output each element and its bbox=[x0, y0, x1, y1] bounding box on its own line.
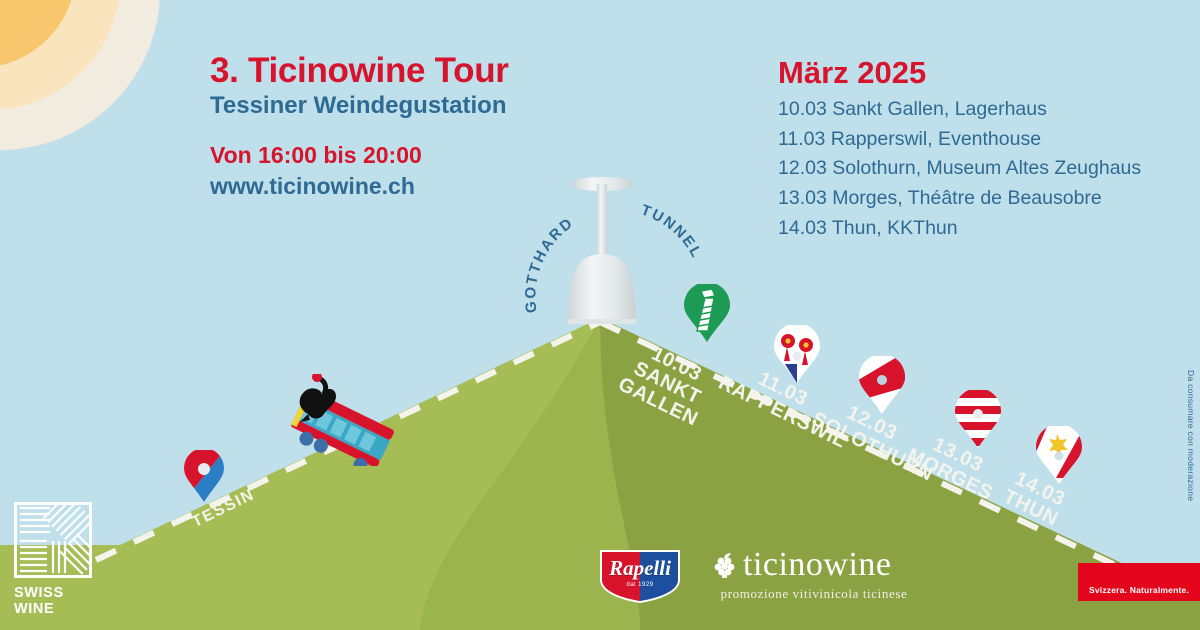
ticinowine-tagline: promozione vitivinicola ticinese bbox=[714, 586, 914, 602]
tour-bus-with-rooster-icon bbox=[284, 374, 394, 466]
rapelli-established: dal 1929 bbox=[598, 582, 682, 588]
list-item: 12.03 Solothurn, Museum Altes Zeughaus bbox=[778, 154, 1198, 184]
swiss-wine-logo: SWISS WINE bbox=[14, 502, 100, 617]
list-item: 10.03 Sankt Gallen, Lagerhaus bbox=[778, 95, 1198, 125]
svizzera-naturalmente-banner: Svizzera. Naturalmente. bbox=[1078, 563, 1200, 601]
schedule-list: 10.03 Sankt Gallen, Lagerhaus 11.03 Rapp… bbox=[778, 95, 1198, 243]
ticino-origin-pin-icon bbox=[184, 450, 224, 502]
rapperswil-coat-of-arms-pin bbox=[774, 325, 820, 383]
solothurn-coat-of-arms-pin bbox=[859, 356, 905, 414]
morges-coat-of-arms-pin bbox=[955, 390, 1001, 448]
schedule-month: März 2025 bbox=[778, 56, 1198, 90]
headline-block: 3. Ticinowine Tour Tessiner Weindegustat… bbox=[210, 52, 730, 201]
list-item: 11.03 Rapperswil, Eventhouse bbox=[778, 125, 1198, 155]
page-subtitle: Tessiner Weindegustation bbox=[210, 92, 730, 120]
schedule-block: März 2025 10.03 Sankt Gallen, Lagerhaus … bbox=[778, 56, 1198, 243]
svg-text:GOTTHARD: GOTTHARD bbox=[524, 214, 577, 314]
poster-canvas: GOTTHARD TUNNEL bbox=[0, 0, 1200, 630]
alcohol-disclaimer: Da consumare con moderazione bbox=[1186, 370, 1196, 501]
list-item: 14.03 Thun, KKThun bbox=[778, 214, 1198, 244]
svizzera-banner-text: Svizzera. Naturalmente. bbox=[1078, 585, 1200, 595]
swiss-wine-wordmark: SWISS WINE bbox=[14, 585, 100, 617]
ticinowine-logo: ticinowine promozione vitivinicola ticin… bbox=[714, 548, 914, 602]
website-link[interactable]: www.ticinowine.ch bbox=[210, 172, 730, 201]
svg-text:TUNNEL: TUNNEL bbox=[639, 202, 706, 262]
sankt-gallen-coat-of-arms-pin bbox=[684, 284, 730, 342]
thun-coat-of-arms-pin bbox=[1036, 426, 1082, 484]
swiss-wine-mark-icon bbox=[14, 502, 92, 578]
rapelli-wordmark: Rapelli bbox=[598, 556, 682, 581]
page-title: 3. Ticinowine Tour bbox=[210, 52, 730, 90]
opening-hours: Von 16:00 bis 20:00 bbox=[210, 141, 730, 170]
ticinowine-wordmark: ticinowine bbox=[743, 548, 892, 582]
list-item: 13.03 Morges, Théâtre de Beausobre bbox=[778, 184, 1198, 214]
grape-cluster-icon bbox=[714, 552, 736, 578]
rapelli-logo: Rapelli dal 1929 bbox=[598, 548, 682, 604]
